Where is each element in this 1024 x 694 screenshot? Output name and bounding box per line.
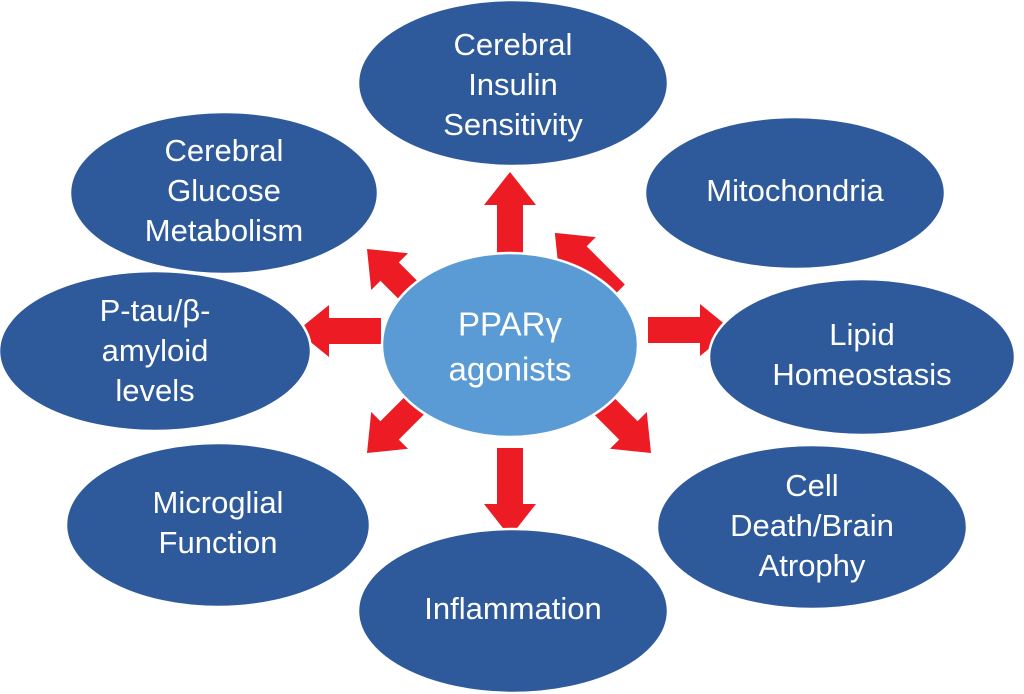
node-label-line-2: Death/Brain bbox=[730, 508, 894, 543]
node-cerebral-insulin-sensitivity[interactable]: Cerebral Insulin Sensitivity bbox=[358, 0, 668, 166]
node-label-line-2: Function bbox=[159, 525, 278, 560]
node-cerebral-glucose-metabolism[interactable]: Cerebral Glucose Metabolism bbox=[70, 112, 378, 274]
diagram-canvas: Cerebral Insulin Sensitivity Mitochondri… bbox=[0, 0, 1024, 694]
node-p-tau-beta-amyloid-levels[interactable]: P-tau/β- amyloid levels bbox=[0, 271, 311, 431]
node-cell-death-brain-atrophy[interactable]: Cell Death/Brain Atrophy bbox=[657, 445, 967, 609]
node-label-line-2: Insulin bbox=[468, 67, 558, 102]
node-microglial-function[interactable]: Microglial Function bbox=[66, 443, 370, 607]
node-label-line-1: Cerebral bbox=[165, 133, 284, 168]
node-label-line-2: Homeostasis bbox=[772, 357, 951, 392]
center-label-line-2: agonists bbox=[449, 351, 572, 388]
node-label-line-3: Sensitivity bbox=[443, 107, 583, 142]
ppar-gamma-agonist-effects-diagram: Cerebral Insulin Sensitivity Mitochondri… bbox=[0, 0, 1024, 694]
node-label-line-1: Cell bbox=[785, 468, 838, 503]
node-label-line-1: Mitochondria bbox=[706, 173, 884, 208]
node-mitochondria[interactable]: Mitochondria bbox=[645, 117, 945, 269]
center-ellipse bbox=[382, 253, 638, 437]
node-label-line-2: amyloid bbox=[102, 333, 209, 368]
center-label-line-1: PPARγ bbox=[458, 306, 562, 343]
arrow-to-inflammation bbox=[484, 448, 536, 537]
arrow-to-cerebral-insulin-sensitivity bbox=[484, 172, 536, 262]
node-label-line-1: Microglial bbox=[153, 485, 284, 520]
node-label-line-1: P-tau/β- bbox=[100, 293, 211, 328]
node-inflammation[interactable]: Inflammation bbox=[358, 529, 668, 693]
node-label-line-2: Glucose bbox=[167, 173, 281, 208]
node-label-line-3: levels bbox=[115, 373, 194, 408]
node-lipid-homeostasis[interactable]: Lipid Homeostasis bbox=[709, 279, 1015, 435]
node-label-line-1: Lipid bbox=[829, 317, 895, 352]
node-label-line-1: Inflammation bbox=[424, 591, 601, 626]
node-ppar-gamma-agonists[interactable]: PPARγ agonists bbox=[382, 253, 638, 437]
node-label-line-3: Atrophy bbox=[759, 548, 866, 583]
node-label-line-1: Cerebral bbox=[454, 27, 573, 62]
node-label-line-3: Metabolism bbox=[145, 213, 304, 248]
